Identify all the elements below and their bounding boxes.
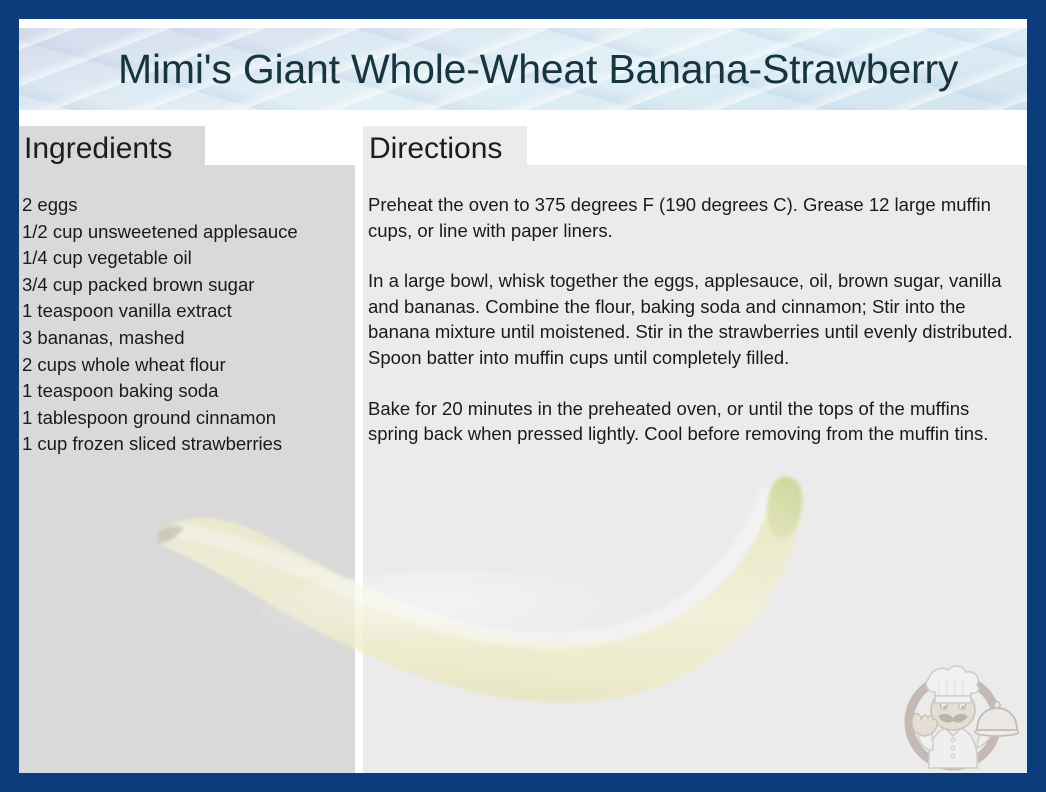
ingredients-heading: Ingredients [24,131,172,167]
title-banner: Mimi's Giant Whole-Wheat Banana-Strawber… [18,28,1028,110]
direction-paragraph: Bake for 20 minutes in the preheated ove… [368,396,1020,447]
list-item: 2 cups whole wheat flour [22,352,352,379]
list-item: 2 eggs [22,192,352,219]
direction-paragraph: Preheat the oven to 375 degrees F (190 d… [368,192,1020,243]
ingredients-list: 2 eggs 1/2 cup unsweetened applesauce 1/… [22,192,352,458]
list-item: 3/4 cup packed brown sugar [22,272,352,299]
list-item: 1 tablespoon ground cinnamon [22,405,352,432]
recipe-card: Mimi's Giant Whole-Wheat Banana-Strawber… [0,0,1046,792]
page-title: Mimi's Giant Whole-Wheat Banana-Strawber… [118,42,1028,96]
directions-body: Preheat the oven to 375 degrees F (190 d… [368,192,1020,472]
list-item: 1 cup frozen sliced strawberries [22,431,352,458]
list-item: 3 bananas, mashed [22,325,352,352]
list-item: 1 teaspoon baking soda [22,378,352,405]
list-item: 1/4 cup vegetable oil [22,245,352,272]
directions-heading: Directions [369,131,502,167]
list-item: 1 teaspoon vanilla extract [22,298,352,325]
list-item: 1/2 cup unsweetened applesauce [22,219,352,246]
direction-paragraph: In a large bowl, whisk together the eggs… [368,268,1020,370]
